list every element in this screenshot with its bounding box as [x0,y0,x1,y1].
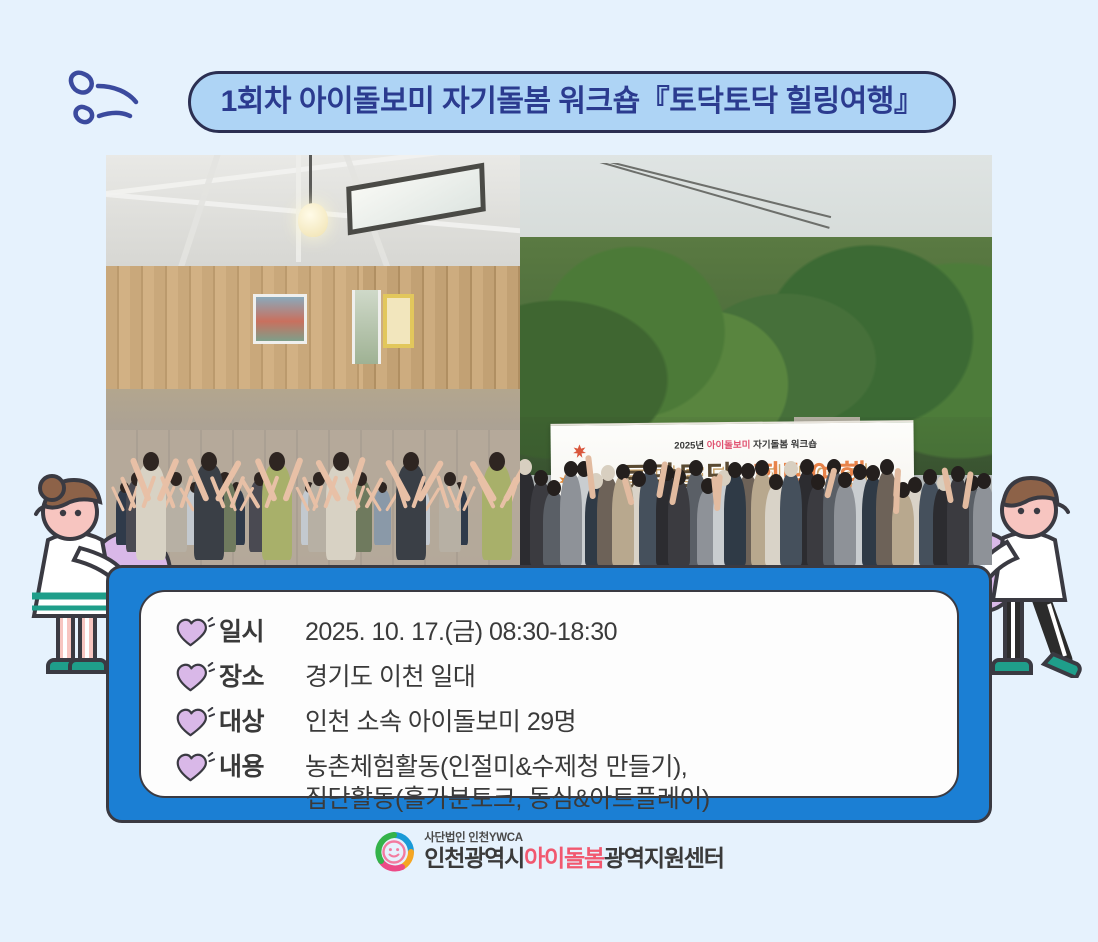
info-frame: 일시 2025. 10. 17.(금) 08:30-18:30 장소 경기도 이… [106,565,992,823]
org-title-prefix: 인천광역시 [424,845,524,871]
org-title: 인천광역시아이돌봄광역지원센터 [424,845,723,871]
title-pill: 1회차 아이돌보미 자기돌봄 워크숍『토닥토닥 힐링여행』 [188,71,957,133]
footer: 사단법인 인천YWCA 인천광역시아이돌봄광역지원센터 [0,832,1098,872]
org-title-accent: 아이돌봄 [524,845,604,871]
info-value: 2025. 10. 17.(금) 08:30-18:30 [305,616,617,648]
header: 1회차 아이돌보미 자기돌봄 워크숍『토닥토닥 힐링여행』 [0,58,1098,146]
info-value: 경기도 이천 일대 [305,661,475,693]
banner-subtitle: 2025년 아이돌보미 자기돌봄 워크숍 [674,435,817,450]
sparkle-heart-icon [175,661,219,693]
info-row-content: 내용 농촌체험활동(인절미&수제청 만들기), 집단활동(홀가분토크, 동심&아… [175,751,923,815]
photo-outdoor-group: 2025년 아이돌보미 자기돌봄 워크숍 토닥토닥 힐링여행 일자 : 2025… [520,155,992,565]
sparkle-heart-icon [175,616,219,648]
info-value-line1: 농촌체험활동(인절미&수제청 만들기), [305,753,687,781]
info-label: 장소 [219,661,305,693]
info-label: 대상 [219,706,305,738]
org-name-block: 사단법인 인천YWCA 인천광역시아이돌봄광역지원센터 [424,832,723,871]
page-title: 1회차 아이돌보미 자기돌봄 워크숍『토닥토닥 힐링여행』 [221,87,924,117]
info-value: 농촌체험활동(인절미&수제청 만들기), 집단활동(홀가분토크, 동심&아트플레… [305,751,710,815]
info-row-datetime: 일시 2025. 10. 17.(금) 08:30-18:30 [175,616,923,648]
info-value: 인천 소속 아이돌보미 29명 [305,706,576,738]
info-row-place: 장소 경기도 이천 일대 [175,661,923,693]
boy-character-icon [985,468,1095,678]
org-title-suffix: 광역지원센터 [604,845,724,871]
info-card: 일시 2025. 10. 17.(금) 08:30-18:30 장소 경기도 이… [139,590,959,798]
photo-strip: 2025년 아이돌보미 자기돌봄 워크숍 토닥토닥 힐링여행 일자 : 2025… [106,155,992,565]
info-row-target: 대상 인천 소속 아이돌보미 29명 [175,706,923,738]
info-label: 일시 [219,616,305,648]
org-affiliation: 사단법인 인천YWCA [424,832,723,845]
swoosh-hearts-icon [66,64,158,140]
info-value-line2: 집단활동(홀가분토크, 동심&아트플레이) [305,783,710,815]
poster-root: 1회차 아이돌보미 자기돌봄 워크숍『토닥토닥 힐링여행』 [0,0,1098,942]
ywca-smile-ring-logo [374,832,414,872]
info-label: 내용 [219,751,305,783]
sparkle-heart-icon [175,751,219,783]
photo-indoor-group [106,155,520,565]
sparkle-heart-icon [175,706,219,738]
